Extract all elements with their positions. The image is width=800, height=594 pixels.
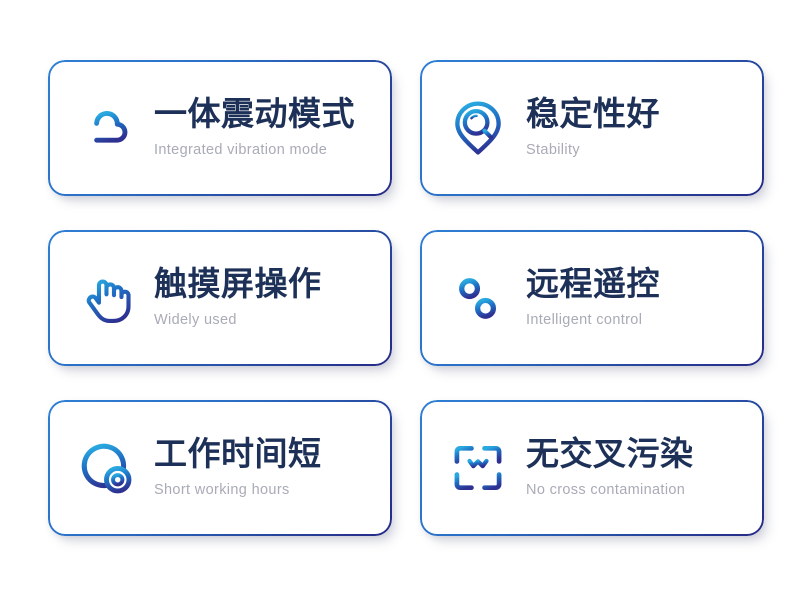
feature-card-short-working-hours[interactable]: 工作时间短 Short working hours bbox=[48, 400, 392, 536]
card-title: 触摸屏操作 bbox=[154, 267, 322, 304]
feature-card-grid: 一体震动模式 Integrated vibration mode bbox=[0, 0, 800, 594]
feature-card-touchscreen-operation[interactable]: 触摸屏操作 Widely used bbox=[48, 230, 392, 366]
card-title: 远程遥控 bbox=[526, 267, 660, 304]
feature-card-no-cross-contamination[interactable]: 无交叉污染 No cross contamination bbox=[420, 400, 764, 536]
card-text: 工作时间短 Short working hours bbox=[154, 437, 322, 499]
card-title: 工作时间短 bbox=[154, 437, 322, 474]
card-title: 稳定性好 bbox=[526, 97, 660, 134]
feature-card-remote-control[interactable]: 远程遥控 Intelligent control bbox=[420, 230, 764, 366]
card-text: 触摸屏操作 Widely used bbox=[154, 267, 322, 329]
bracket-wave-icon bbox=[446, 436, 510, 500]
clock-icon bbox=[74, 436, 138, 500]
card-text: 一体震动模式 Integrated vibration mode bbox=[154, 97, 355, 159]
sliders-icon bbox=[446, 266, 510, 330]
cloud-wind-icon bbox=[74, 96, 138, 160]
touch-hand-icon bbox=[74, 266, 138, 330]
card-subtitle: No cross contamination bbox=[526, 482, 694, 499]
card-subtitle: Intelligent control bbox=[526, 312, 660, 329]
card-subtitle: Short working hours bbox=[154, 482, 322, 499]
card-subtitle: Widely used bbox=[154, 312, 322, 329]
card-text: 无交叉污染 No cross contamination bbox=[526, 437, 694, 499]
feature-card-integrated-vibration-mode[interactable]: 一体震动模式 Integrated vibration mode bbox=[48, 60, 392, 196]
card-title: 一体震动模式 bbox=[154, 97, 355, 134]
card-subtitle: Integrated vibration mode bbox=[154, 142, 355, 159]
location-pin-icon bbox=[446, 96, 510, 160]
card-text: 稳定性好 Stability bbox=[526, 97, 660, 159]
feature-card-stability[interactable]: 稳定性好 Stability bbox=[420, 60, 764, 196]
card-text: 远程遥控 Intelligent control bbox=[526, 267, 660, 329]
card-title: 无交叉污染 bbox=[526, 437, 694, 474]
card-subtitle: Stability bbox=[526, 142, 660, 159]
